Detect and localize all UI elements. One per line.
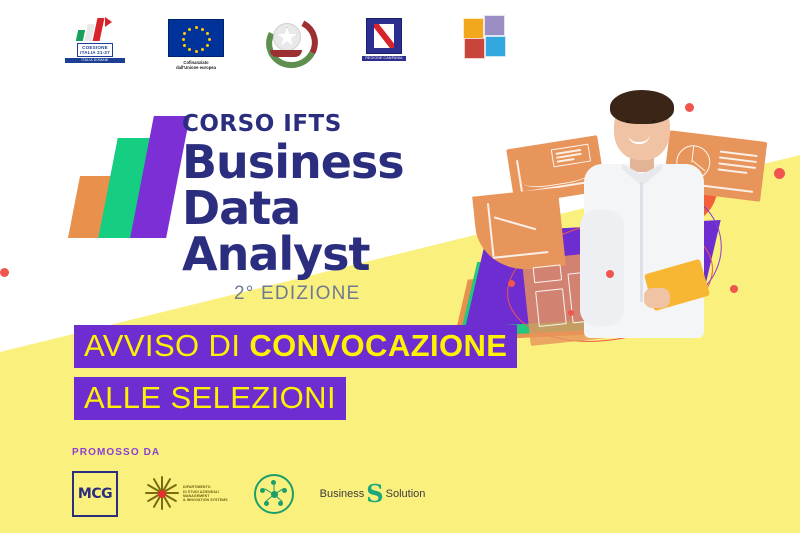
campania-shield-icon [366,18,402,54]
decorative-dot [606,270,614,278]
eu-logo-caption: Cofinanziato dall'Unione europea [176,60,216,70]
person-illustration [570,90,720,338]
decorative-dot [774,168,785,179]
its-ifts-squares-logo [455,14,513,58]
decorative-dot [730,285,738,293]
coesione-logo-subtitle: ITALIA DOMANI [65,58,125,63]
promoted-by-label: PROMOSSO DA [72,447,425,458]
spiral-icon [144,476,180,512]
course-edition: 2° EDIZIONE [234,283,404,305]
headline-line1-light: AVVISO DI [84,328,249,363]
headline-line1-bold: CONVOCAZIONE [249,328,507,363]
european-union-logo: Cofinanziato dall'Unione europea [160,19,232,70]
promoted-by-section: PROMOSSO DA MCG [72,447,425,517]
italian-republic-emblem-icon [264,16,308,58]
course-kicker: CORSO IFTS [182,112,404,136]
business-analyst-photo [468,84,800,344]
regione-campania-logo: REGIONE CAMPANIA [356,18,412,61]
atom-network-logo [254,474,294,514]
coesione-logo-text: COESIONE ITALIA 21-27 [77,43,113,57]
headline-line1: AVVISO DI CONVOCAZIONE [74,325,517,368]
poster-canvas: COESIONE ITALIA 21-27 ITALIA DOMANI [0,0,800,533]
headline-banner: AVVISO DI CONVOCAZIONE ALLE SELEZIONI [74,325,517,420]
institutional-logo-strip: COESIONE ITALIA 21-27 ITALIA DOMANI [0,0,800,88]
bar-chart-logo-icon [70,116,174,238]
mcg-logo-text: MCG [78,486,112,502]
decorative-dot [568,310,574,316]
course-titles: CORSO IFTS Business Data Analyst 2° EDIZ… [182,112,404,305]
partner-logo-row: MCG D [72,471,425,517]
course-title-line1: Business [182,139,404,185]
dipartimento-logo-text: DIPARTIMENTO DI STUDI AZIENDALI MANAGEME… [183,485,228,503]
eu-flag-icon [168,19,224,57]
repubblica-italiana-emblem [258,16,314,58]
mcg-logo: MCG [72,471,118,517]
coesione-italia-logo: COESIONE ITALIA 21-27 ITALIA DOMANI [62,17,128,63]
headline-line2: ALLE SELEZIONI [74,377,346,420]
colored-squares-icon [462,14,506,58]
campania-logo-caption: REGIONE CAMPANIA [362,56,405,61]
coesione-mark-icon [76,17,114,41]
decorative-dot [0,268,9,277]
decorative-dot [508,280,515,287]
business-solution-word2: Solution [386,488,426,500]
business-solution-logo: Business S Solution [320,485,426,503]
dipartimento-logo: DIPARTIMENTO DI STUDI AZIENDALI MANAGEME… [144,476,228,512]
course-title-line2: Data Analyst [182,185,404,277]
decorative-dot [685,103,694,112]
business-solution-mark: S [366,485,383,503]
business-solution-word1: Business [320,488,365,500]
